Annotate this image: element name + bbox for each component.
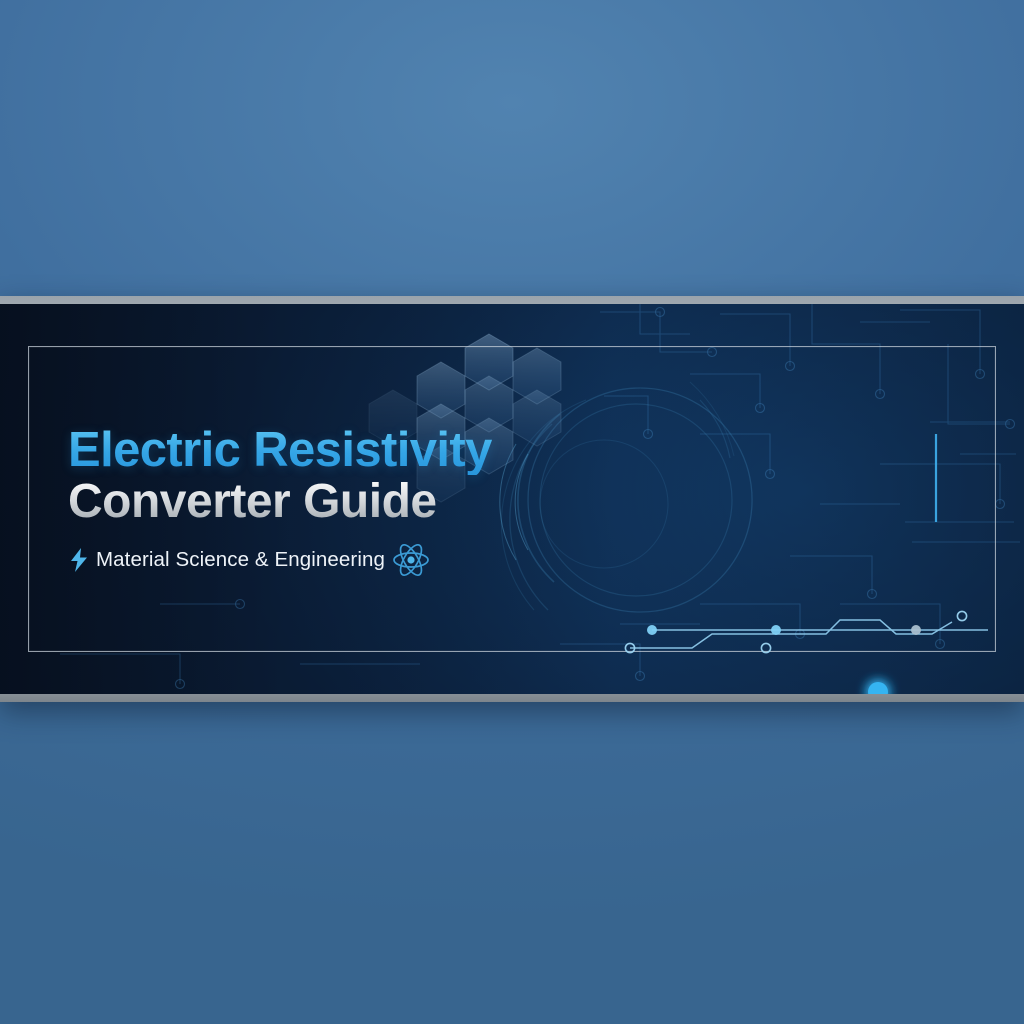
subtitle-text: Material Science & Engineering xyxy=(96,548,385,572)
atom-icon xyxy=(391,540,431,580)
page-title-line-1: Electric Resistivity xyxy=(68,426,492,475)
crystal-lattice-graphic xyxy=(778,662,978,694)
banner-panel: Electric Resistivity Converter Guide Mat… xyxy=(0,304,1024,694)
lightning-bolt-icon xyxy=(68,547,90,573)
subtitle-row: Material Science & Engineering xyxy=(68,540,492,580)
headline-block: Electric Resistivity Converter Guide Mat… xyxy=(68,426,492,580)
page-title-line-2: Converter Guide xyxy=(68,478,492,526)
